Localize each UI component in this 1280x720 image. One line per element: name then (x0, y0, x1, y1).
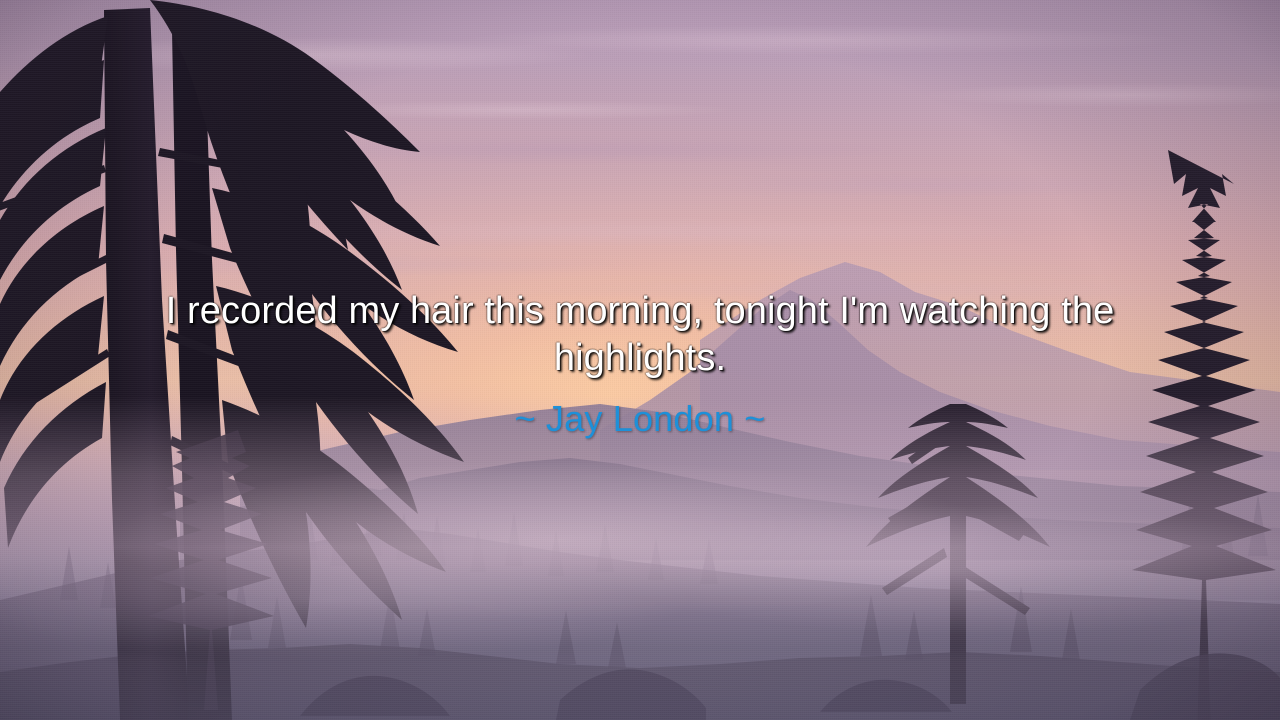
quote-author: ~ Jay London ~ (0, 398, 1280, 440)
quote-overlay: I recorded my hair this morning, tonight… (0, 288, 1280, 440)
quote-image-canvas: I recorded my hair this morning, tonight… (0, 0, 1280, 720)
quote-text: I recorded my hair this morning, tonight… (130, 288, 1150, 382)
